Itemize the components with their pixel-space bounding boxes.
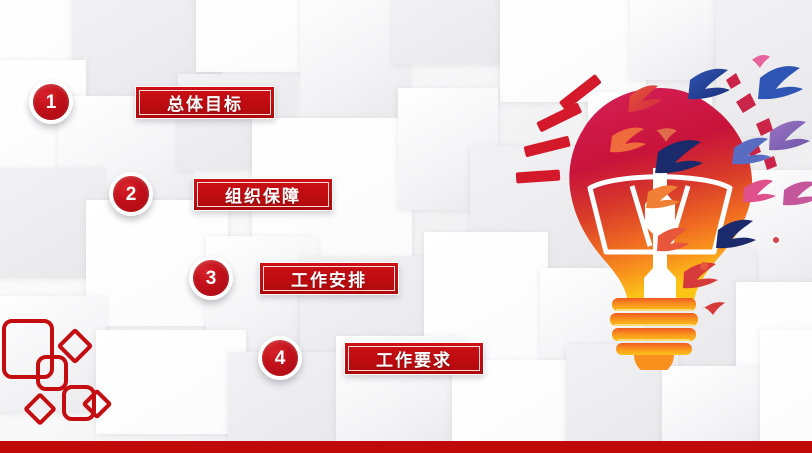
item-label-badge[interactable]: 工作安排 xyxy=(259,262,399,295)
item-label-badge[interactable]: 工作要求 xyxy=(344,342,484,375)
item-label-text: 总体目标 xyxy=(167,90,243,115)
deco-diamond-small xyxy=(23,392,57,426)
item-label-text: 工作要求 xyxy=(376,346,452,371)
item-label-text: 工作安排 xyxy=(291,266,367,291)
item-number-badge: 1 xyxy=(29,80,73,124)
corner-decoration xyxy=(0,305,160,435)
deco-rounded-square-small xyxy=(36,355,68,391)
lightbulb-illustration xyxy=(508,40,812,370)
item-label-badge[interactable]: 组织保障 xyxy=(193,178,333,211)
list-item[interactable]: 3 工作安排 xyxy=(189,256,399,300)
item-number-badge: 3 xyxy=(189,256,233,300)
item-number-badge: 2 xyxy=(109,172,153,216)
item-label-badge[interactable]: 总体目标 xyxy=(135,86,275,119)
slide-canvas: 1 总体目标 2 组织保障 3 工作安排 4 工作要求 xyxy=(0,0,812,453)
list-item[interactable]: 1 总体目标 xyxy=(29,80,275,124)
bottom-accent-bar xyxy=(0,441,812,453)
list-item[interactable]: 2 组织保障 xyxy=(109,172,333,216)
bulb-base xyxy=(610,298,698,370)
list-item[interactable]: 4 工作要求 xyxy=(258,336,484,380)
item-number-badge: 4 xyxy=(258,336,302,380)
item-label-text: 组织保障 xyxy=(225,182,301,207)
